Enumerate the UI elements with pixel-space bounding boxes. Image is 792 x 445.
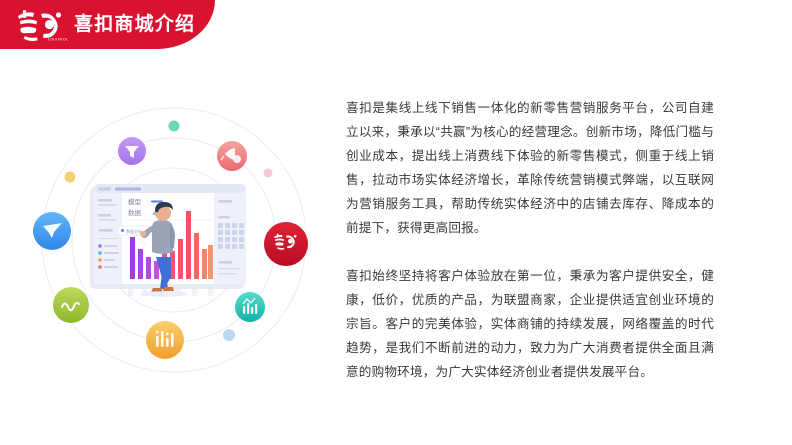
dot-green [169, 121, 180, 132]
dot-yellow [65, 172, 76, 183]
orbit-icon-send-message [33, 212, 71, 250]
orbit-icon-chart-bars-orange [146, 321, 184, 359]
intro-paragraph-2: 喜扣始终坚持将客户体验放在第一位，秉承为客户提供安全，健康，低价，优质的产品，为… [346, 264, 714, 384]
orbit-icon-pulse-line [53, 287, 89, 323]
body-text-column: 喜扣是集线上线下销售一体化的新零售营销服务平台，公司自建立以来，秉承以“共赢”为… [346, 96, 714, 384]
dashboard-panel-subtitle: 数据 [128, 208, 142, 217]
dashboard-panel-title: 模型 [128, 197, 142, 206]
dot-pink [264, 169, 273, 178]
orbit-icon-megaphone [217, 141, 247, 171]
page-title: 喜扣商城介绍 [74, 15, 195, 34]
dot-blue [223, 329, 235, 341]
dashboard-tooltip-label: 数据分析 [126, 228, 142, 234]
orbit-icon-chart-bars-teal [235, 292, 265, 322]
logo-subtext: CNXIKOU [48, 36, 68, 41]
orbit-icon-xikou-badge [264, 222, 308, 266]
header-ribbon: CNXIKOU 喜扣商城介绍 [0, 0, 215, 49]
data-dashboard-illustration: 模型 数据 数据分析 [18, 98, 340, 382]
intro-paragraph-1: 喜扣是集线上线下销售一体化的新零售营销服务平台，公司自建立以来，秉承以“共赢”为… [346, 96, 714, 240]
xikou-brand-logo: CNXIKOU [12, 5, 68, 45]
orbit-icon-funnel [118, 137, 146, 165]
